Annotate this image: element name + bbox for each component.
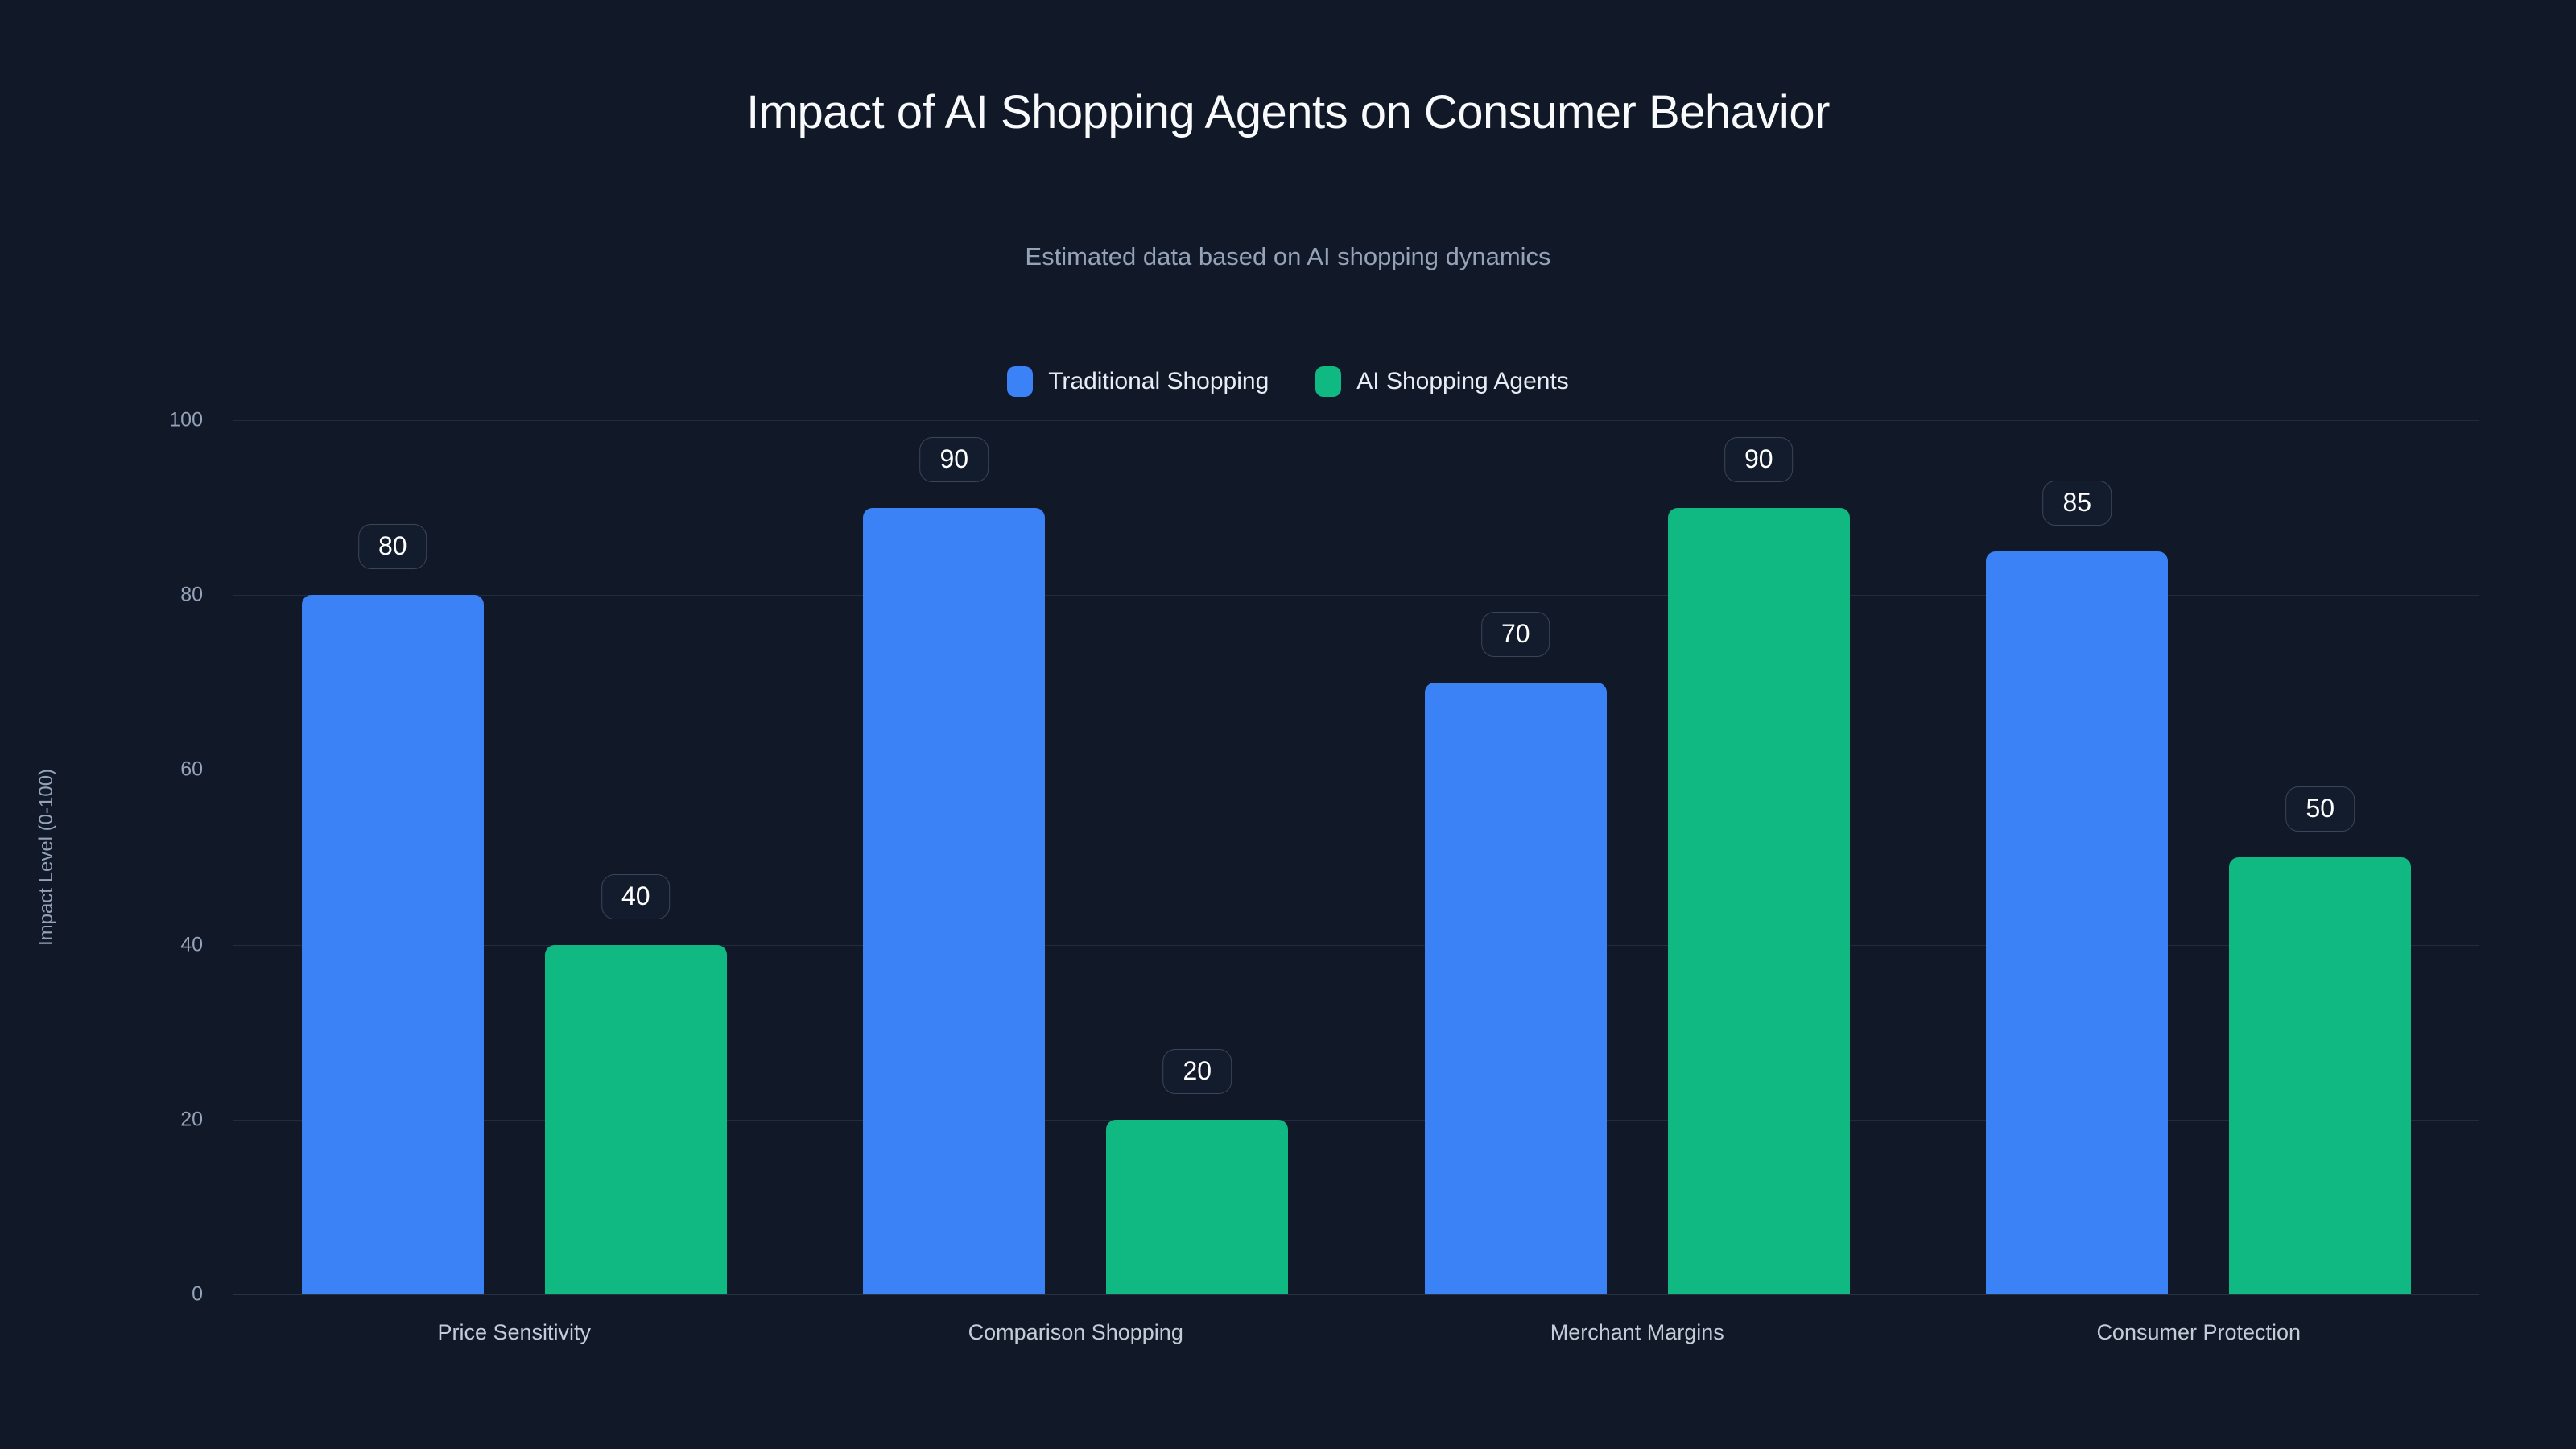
plot-area: 8040902070908550 (233, 420, 2479, 1294)
x-axis-tick-labels: Price SensitivityComparison ShoppingMerc… (233, 1320, 2479, 1368)
bar-value-label: 90 (919, 437, 989, 482)
bar[interactable] (545, 945, 727, 1294)
legend-swatch-ai-shopping-agents (1315, 366, 1341, 397)
bar-value-label: 20 (1162, 1049, 1232, 1094)
chart-title: Impact of AI Shopping Agents on Consumer… (0, 87, 2576, 138)
legend-item-traditional-shopping[interactable]: Traditional Shopping (1007, 366, 1269, 397)
legend-label-ai-shopping-agents: AI Shopping Agents (1356, 368, 1569, 395)
chart-subtitle: Estimated data based on AI shopping dyna… (0, 242, 2576, 271)
x-tick-label: Consumer Protection (2096, 1320, 2301, 1345)
gridline-0 (233, 1294, 2479, 1295)
bar-value-label: 90 (1724, 437, 1794, 482)
bar[interactable] (2229, 857, 2411, 1294)
y-tick-label-20: 20 (180, 1108, 203, 1131)
bar-value-label: 70 (1481, 612, 1550, 657)
y-axis-tick-labels: 020406080100 (0, 420, 233, 1294)
y-tick-label-100: 100 (169, 409, 203, 432)
bar[interactable] (863, 508, 1045, 1294)
x-tick-label: Merchant Margins (1550, 1320, 1724, 1345)
bar[interactable] (1425, 683, 1607, 1294)
y-tick-label-60: 60 (180, 758, 203, 782)
bar[interactable] (1106, 1120, 1288, 1294)
legend-label-traditional-shopping: Traditional Shopping (1048, 368, 1269, 395)
bar-value-label: 85 (2042, 481, 2112, 526)
legend-item-ai-shopping-agents[interactable]: AI Shopping Agents (1315, 366, 1569, 397)
chart-legend: Traditional Shopping AI Shopping Agents (0, 366, 2576, 397)
y-tick-label-0: 0 (192, 1283, 203, 1307)
bar[interactable] (302, 595, 484, 1294)
bar-value-label: 50 (2285, 786, 2355, 832)
x-tick-label: Price Sensitivity (437, 1320, 591, 1345)
bar-value-label: 80 (358, 524, 427, 569)
bar[interactable] (1668, 508, 1850, 1294)
bar[interactable] (1986, 551, 2168, 1294)
y-tick-label-80: 80 (180, 584, 203, 607)
legend-swatch-traditional-shopping (1007, 366, 1033, 397)
x-tick-label: Comparison Shopping (968, 1320, 1183, 1345)
y-tick-label-40: 40 (180, 933, 203, 956)
bar-value-label: 40 (601, 874, 671, 919)
gridline-100 (233, 420, 2479, 421)
